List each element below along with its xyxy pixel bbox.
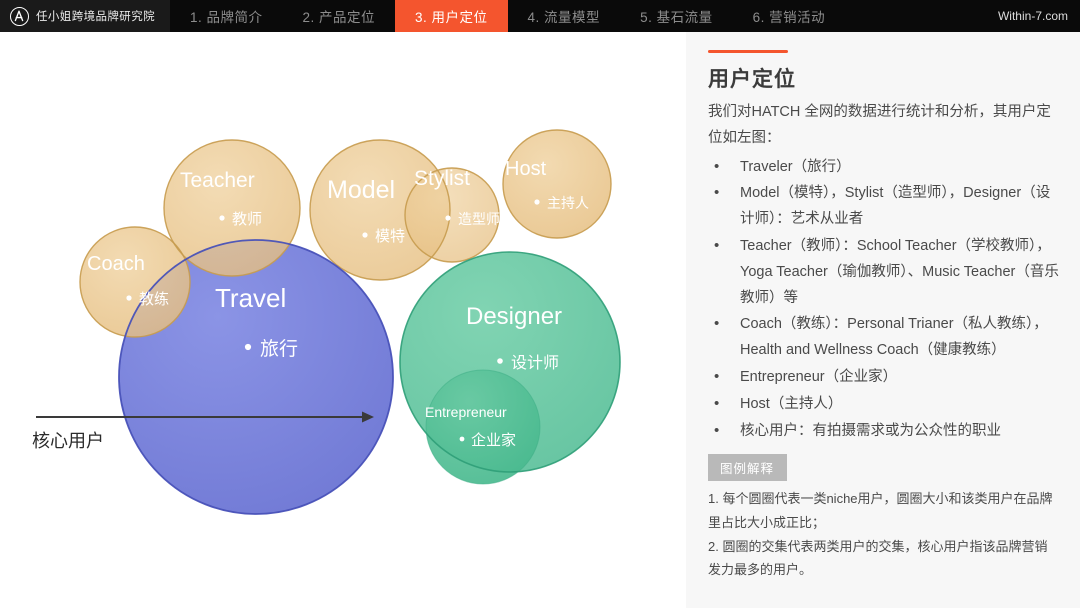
venn-circle-entrepreneur[interactable] (426, 370, 540, 484)
bullet-dot-coach (126, 295, 131, 300)
legend-note-2: 2. 圆圈的交集代表两类用户的交集，核心用户指该品牌营销发力最多的用户。 (708, 535, 1060, 582)
bullet-dot-host (534, 199, 539, 204)
tab-traffic-model[interactable]: 4. 流量模型 (508, 0, 621, 32)
bullet-dot-travel (245, 344, 251, 350)
legend-badge: 图例解释 (708, 454, 787, 481)
list-item: Traveler（旅行） (708, 155, 1060, 181)
list-item: Host（主持人） (708, 392, 1060, 418)
slide-root: 任小姐跨境品牌研究院 1. 品牌简介 2. 产品定位 3. 用户定位 4. 流量… (0, 0, 1080, 608)
tab-cornerstone-traffic[interactable]: 5. 基石流量 (620, 0, 733, 32)
label-model-en: Model (327, 176, 395, 204)
label-coach-en: Coach (87, 253, 145, 275)
label-designer-cn: 设计师 (511, 354, 559, 372)
user-persona-list: Traveler（旅行） Model（模特），Stylist（造型师），Desi… (708, 155, 1060, 445)
bullet-dot-entrepreneur (460, 437, 465, 442)
label-designer-en: Designer (466, 303, 562, 330)
label-coach-cn: 教练 (139, 291, 169, 308)
label-host-cn: 主持人 (547, 195, 589, 211)
label-teacher-en: Teacher (180, 169, 255, 192)
label-entrepreneur-en: Entrepreneur (425, 404, 507, 420)
bullet-dot-model (362, 232, 367, 237)
label-stylist-en: Stylist (414, 167, 470, 190)
circle-a-logo-icon (10, 7, 29, 26)
top-navigation-bar: 任小姐跨境品牌研究院 1. 品牌简介 2. 产品定位 3. 用户定位 4. 流量… (0, 0, 1080, 32)
site-url-label[interactable]: Within-7.com (988, 0, 1080, 32)
nav-tab-list: 1. 品牌简介 2. 产品定位 3. 用户定位 4. 流量模型 5. 基石流量 … (170, 0, 988, 32)
list-item: Entrepreneur（企业家） (708, 365, 1060, 391)
label-travel-en: Travel (215, 283, 286, 313)
page-title: 用户定位 (708, 63, 1060, 93)
bullet-dot-stylist (445, 215, 450, 220)
brand-block[interactable]: 任小姐跨境品牌研究院 (0, 0, 170, 32)
tab-user-position[interactable]: 3. 用户定位 (395, 0, 508, 32)
venn-diagram-svg: 核心用户 Coach 教练 Teacher 教师 Model 模特 Stylis… (0, 32, 686, 608)
tab-marketing-campaign[interactable]: 6. 营销活动 (733, 0, 846, 32)
legend-note-1: 1. 每个圆圈代表一类niche用户，圆圈大小和该类用户在品牌里占比大小成正比； (708, 487, 1060, 534)
bullet-dot-designer (497, 358, 503, 364)
bullet-dot-teacher (219, 215, 224, 220)
label-entrepreneur-cn: 企业家 (471, 431, 516, 449)
label-host-en: Host (505, 158, 547, 180)
list-item: 核心用户：有拍摄需求或为公众性的职业 (708, 419, 1060, 445)
label-model-cn: 模特 (375, 228, 405, 245)
list-item: Model（模特），Stylist（造型师），Designer（设计师）：艺术从… (708, 181, 1060, 233)
section-intro: 我们对HATCH 全网的数据进行统计和分析，其用户定位如左图： (708, 100, 1060, 152)
core-user-arrow-label: 核心用户 (32, 431, 104, 451)
label-teacher-cn: 教师 (232, 211, 262, 228)
side-text-panel: 用户定位 我们对HATCH 全网的数据进行统计和分析，其用户定位如左图： Tra… (686, 32, 1080, 608)
label-travel-cn: 旅行 (260, 338, 298, 360)
list-item: Coach（教练）：Personal Trianer（私人教练），Health … (708, 312, 1060, 364)
venn-diagram-pane: 核心用户 Coach 教练 Teacher 教师 Model 模特 Stylis… (0, 32, 686, 608)
section-accent-rule (708, 50, 788, 53)
list-item: Teacher（教师）：School Teacher（学校教师），Yoga Te… (708, 234, 1060, 311)
tab-product-position[interactable]: 2. 产品定位 (283, 0, 396, 32)
brand-name: 任小姐跨境品牌研究院 (36, 8, 155, 24)
label-stylist-cn: 造型师 (458, 211, 500, 227)
tab-brand-intro[interactable]: 1. 品牌简介 (170, 0, 283, 32)
